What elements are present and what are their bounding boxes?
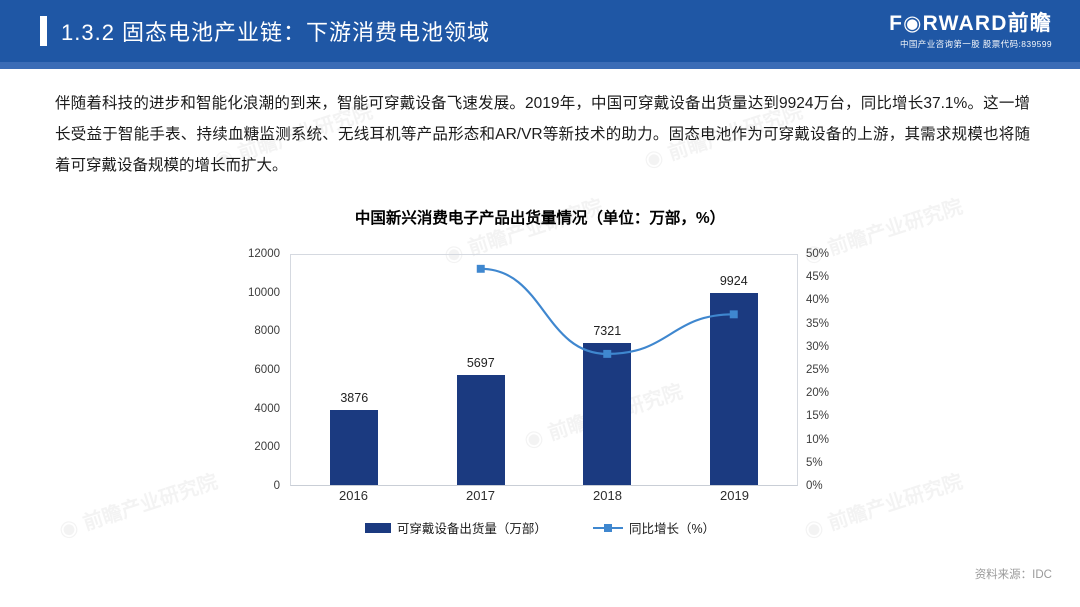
brand-logo: F◉RWARD前瞻 中国产业咨询第一股 股票代码:839599: [889, 12, 1052, 50]
y-right-tick: 30%: [806, 341, 829, 353]
x-axis-tick: 2017: [417, 488, 544, 503]
chart-title: 中国新兴消费电子产品出货量情况（单位：万部，%）: [0, 206, 1080, 228]
page-header: 1.3.2 固态电池产业链：下游消费电池领域 F◉RWARD前瞻 中国产业咨询第…: [0, 0, 1080, 62]
legend-bar-swatch-icon: [365, 523, 391, 533]
legend-item[interactable]: 同比增长（%）: [593, 518, 715, 537]
growth-line: [481, 269, 734, 354]
y-right-tick: 5%: [806, 457, 823, 469]
y-right-tick: 40%: [806, 294, 829, 306]
y-right-tick: 50%: [806, 248, 829, 260]
body-paragraph: 伴随着科技的进步和智能化浪潮的到来，智能可穿戴设备飞速发展。2019年，中国可穿…: [55, 88, 1030, 181]
line-series: [291, 255, 797, 485]
x-axis-tick: 2016: [290, 488, 417, 503]
y-right-tick: 25%: [806, 364, 829, 376]
x-axis-tick: 2018: [544, 488, 671, 503]
y-right-tick: 35%: [806, 318, 829, 330]
legend-line-swatch-icon: [593, 523, 623, 533]
line-marker[interactable]: [477, 265, 485, 273]
x-axis-tick: 2019: [671, 488, 798, 503]
y-right-tick: 0%: [806, 480, 823, 492]
y-right-tick: 10%: [806, 434, 829, 446]
page-title: 1.3.2 固态电池产业链：下游消费电池领域: [61, 15, 490, 47]
y-axis-right: 50%45%40%35%30%25%20%15%10%5%0%: [798, 254, 852, 486]
line-marker[interactable]: [603, 350, 611, 358]
y-left-tick: 0: [274, 480, 280, 492]
y-left-tick: 6000: [254, 364, 280, 376]
y-left-tick: 10000: [248, 287, 280, 299]
legend-label: 同比增长（%）: [629, 518, 715, 537]
brand-logo-tagline: 中国产业咨询第一股 股票代码:839599: [889, 38, 1052, 50]
y-right-tick: 45%: [806, 271, 829, 283]
y-right-tick: 15%: [806, 410, 829, 422]
legend-item[interactable]: 可穿戴设备出货量（万部）: [365, 518, 547, 537]
legend-label: 可穿戴设备出货量（万部）: [397, 518, 547, 537]
line-marker[interactable]: [730, 310, 738, 318]
header-underline: [0, 62, 1080, 69]
y-left-tick: 4000: [254, 403, 280, 415]
chart-legend: 可穿戴设备出货量（万部）同比增长（%）: [0, 518, 1080, 537]
y-left-tick: 8000: [254, 325, 280, 337]
plot-frame: 3876569773219924: [290, 254, 798, 486]
title-accent-bar: [40, 16, 47, 46]
y-left-tick: 2000: [254, 441, 280, 453]
chart-container: 中国新兴消费电子产品出货量情况（单位：万部，%） 120001000080006…: [0, 196, 1080, 566]
y-axis-left: 120001000080006000400020000: [232, 254, 288, 486]
y-left-tick: 12000: [248, 248, 280, 260]
source-note: 资料来源：IDC: [975, 566, 1052, 582]
brand-logo-name: F◉RWARD前瞻: [889, 12, 1052, 36]
chart-plot-area: 120001000080006000400020000 50%45%40%35%…: [232, 254, 852, 499]
y-right-tick: 20%: [806, 387, 829, 399]
x-axis: 2016201720182019: [290, 488, 798, 503]
